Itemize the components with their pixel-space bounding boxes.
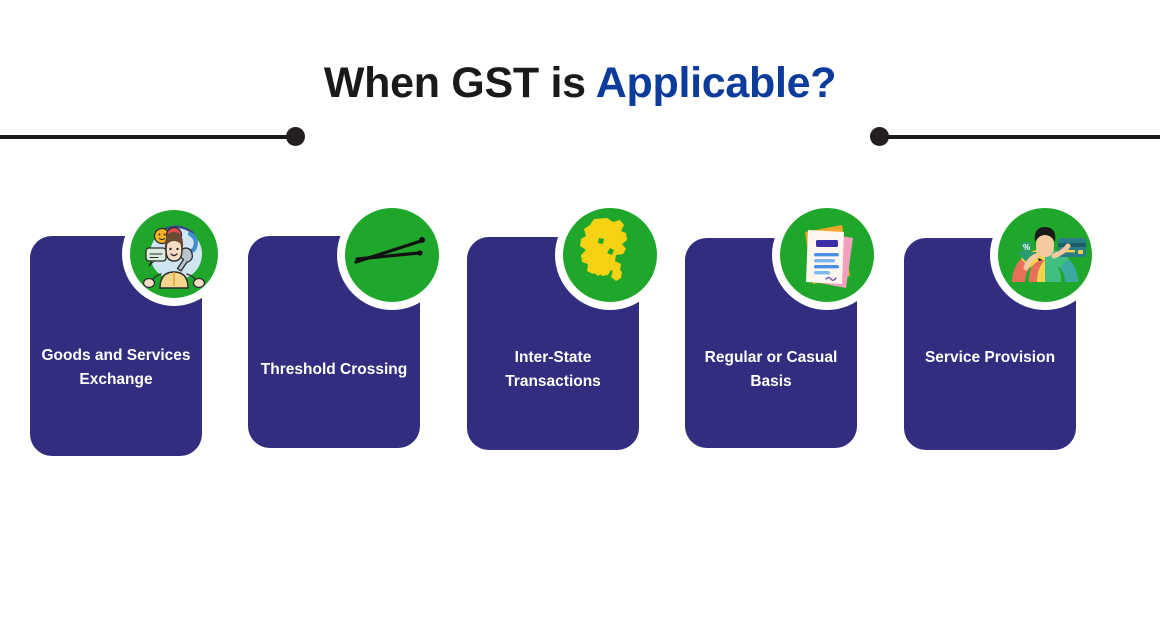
signed-documents-icon [780,208,874,302]
card-label-3: Inter-State Transactions [467,346,639,394]
svg-text:%: % [1023,243,1030,252]
page-title-plain: When GST is [324,59,596,107]
india-map-icon [563,208,657,302]
card-label-1: Goods and Services Exchange [30,344,202,392]
infographic-canvas: When GST is Applicable? [0,0,1160,628]
card-label-5: Service Provision [904,346,1076,370]
card-label-2: Threshold Crossing [248,358,420,382]
crossing-lines-icon [345,208,439,302]
page-title-accent: Applicable? [596,59,836,107]
card-label-4: Regular or Casual Basis [685,346,857,394]
credit-card-gauge-person-icon: % [998,208,1092,302]
bullet-dot-left-icon [286,127,305,146]
page-title: When GST is Applicable? [0,52,1160,114]
customer-service-person-icon [130,210,218,298]
title-rule-right [888,135,1160,139]
title-rule-left [0,135,292,139]
bullet-dot-right-icon [870,127,889,146]
